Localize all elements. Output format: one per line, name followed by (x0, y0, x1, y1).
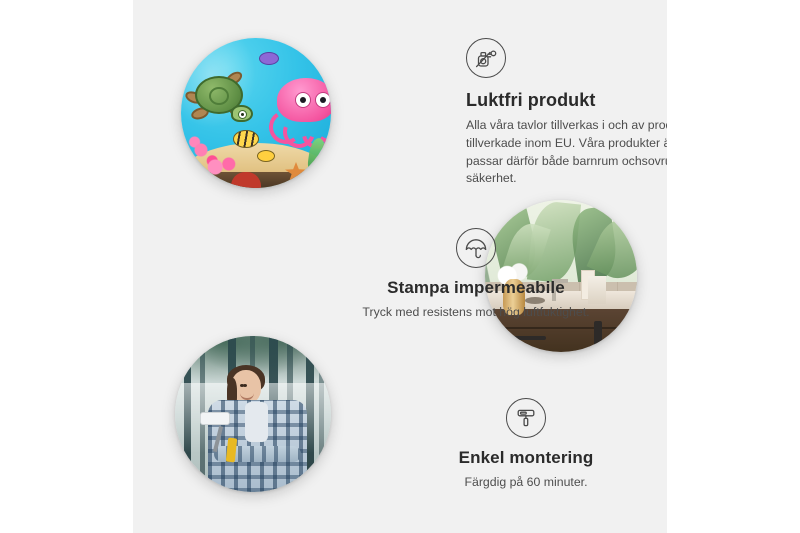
feature-description: Tryck med resistens mot hög luftfuktighe… (346, 304, 606, 322)
forest-mural-image[interactable] (175, 336, 331, 492)
feature-panel: Luktfri produkt Alla våra tavlor tillver… (133, 0, 667, 533)
feature-easy-mounting: Enkel montering Färgdig på 60 minuter. (398, 398, 654, 492)
feature-odour-free: Luktfri produkt Alla våra tavlor tillver… (466, 38, 667, 188)
octopus-body (277, 78, 331, 122)
cabinet-handle (594, 321, 602, 352)
fish-icon (259, 52, 279, 65)
coral-icon (205, 146, 239, 176)
ocean-mural-image[interactable] (181, 38, 331, 188)
octopus-eye (295, 92, 311, 108)
inner-shirt (245, 402, 268, 442)
umbrella-icon (456, 228, 496, 268)
screenshot-stage: Luktfri produkt Alla våra tavlor tillver… (0, 0, 800, 533)
turtle-head (231, 105, 253, 122)
turtle-eye (238, 110, 247, 119)
octopus-eye (315, 92, 331, 108)
octopus-icon (267, 78, 331, 144)
cabinet-handle (512, 336, 546, 340)
feature-title: Enkel montering (398, 448, 654, 468)
no-perfume-icon (466, 38, 506, 78)
feature-description: Alla våra tavlor tillverkas i och av pro… (466, 117, 667, 188)
cabinet-seam (485, 327, 637, 329)
feature-title: Luktfri produkt (466, 90, 667, 111)
forest-scene (175, 336, 331, 492)
paint-roller (200, 412, 230, 425)
paint-roller-icon (506, 398, 546, 438)
feature-description: Färgdig på 60 minuter. (398, 474, 654, 492)
person-figure (206, 370, 309, 492)
person-eye (243, 384, 247, 387)
feature-title: Stampa impermeabile (346, 278, 606, 298)
fish-icon (257, 150, 275, 162)
fish-body (259, 52, 279, 65)
feature-waterproof-print: Stampa impermeabile Tryck med resistens … (346, 228, 606, 322)
person-smile (240, 392, 254, 400)
turtle-icon (189, 76, 251, 124)
fish-body (257, 150, 275, 162)
ocean-scene (181, 38, 331, 188)
